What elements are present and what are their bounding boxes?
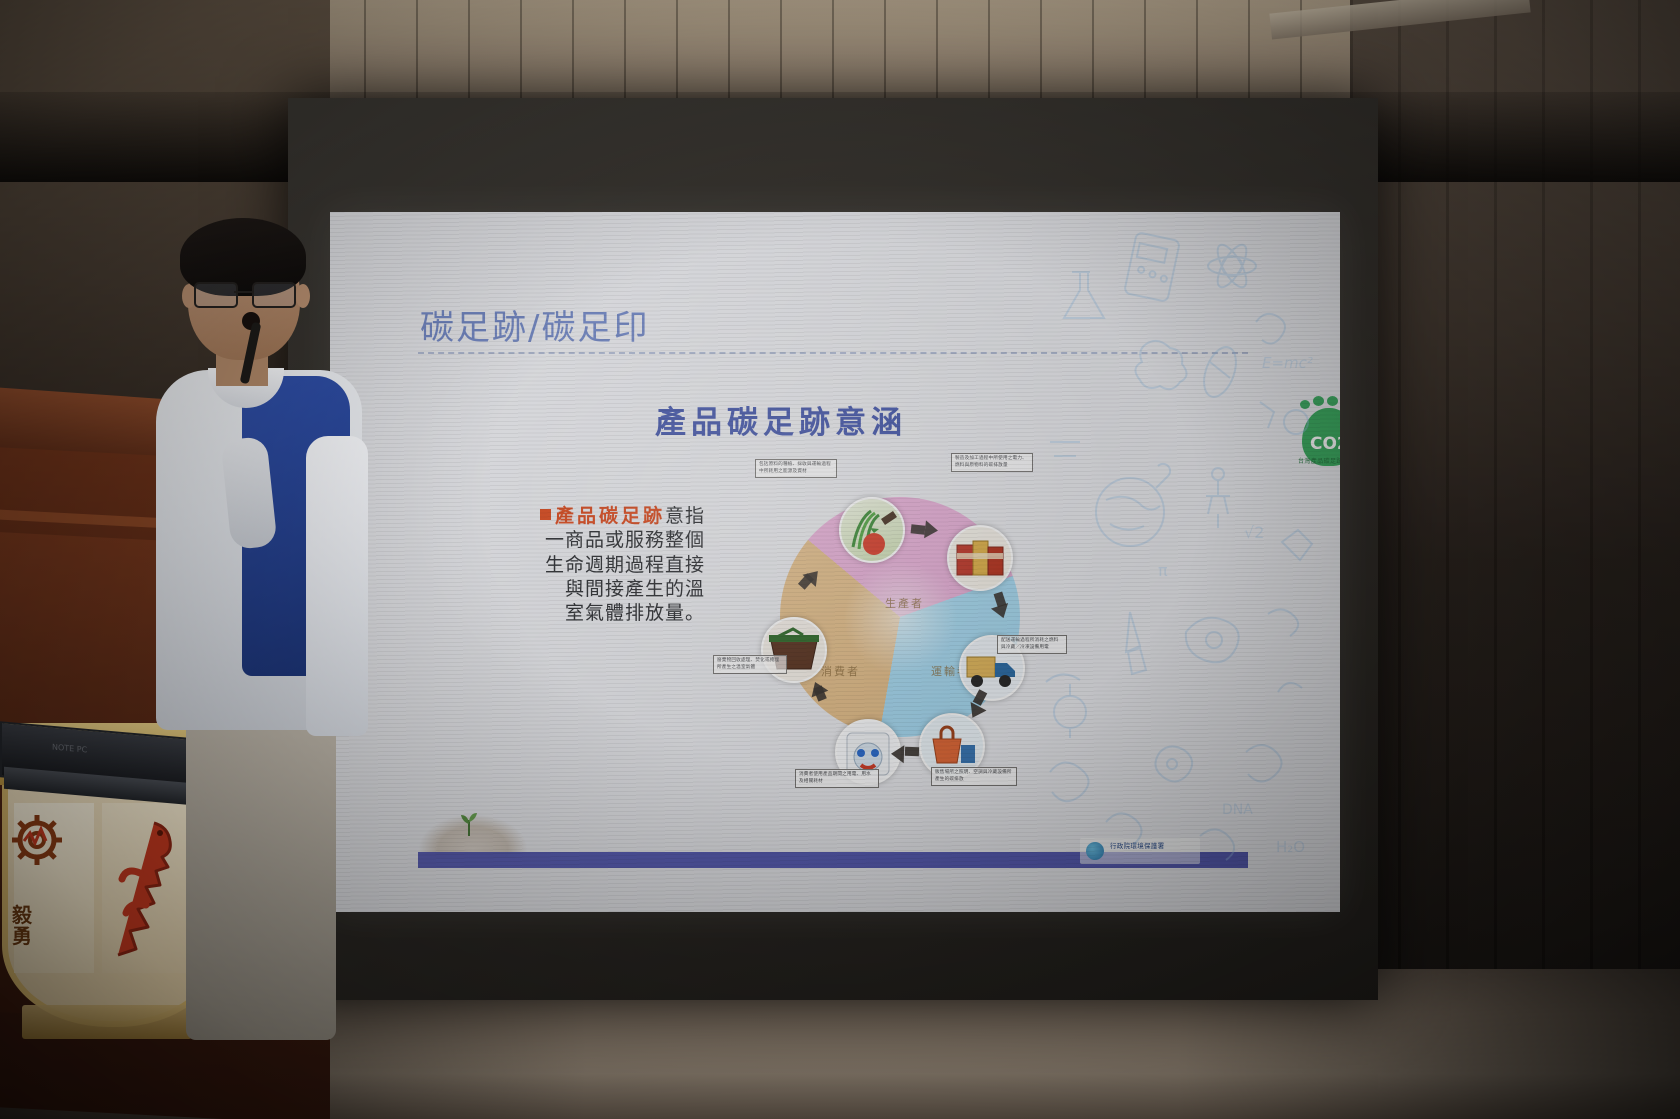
segment-label-producer: 生產者 (885, 595, 924, 611)
bullet-line-3: 生命週期過程直接 (490, 553, 705, 577)
sprout-icon (458, 810, 480, 836)
callout-raw: 包括原料的種植、採收與運輸過程中所耗用之能源及資材 (755, 459, 837, 478)
svg-text:H₂O: H₂O (1276, 838, 1305, 856)
presentation-slide: 碳足跡/碳足印 產品碳足跡意涵 CO2 台灣產品碳足跡 產品碳足跡意指 一商品或… (330, 212, 1340, 912)
svg-text:E=mc²: E=mc² (1262, 354, 1313, 372)
projection-screen[interactable]: 碳足跡/碳足印 產品碳足跡意涵 CO2 台灣產品碳足跡 產品碳足跡意指 一商品或… (330, 212, 1340, 912)
lecture-hall-scene: 碳足跡/碳足印 產品碳足跡意涵 CO2 台灣產品碳足跡 產品碳足跡意指 一商品或… (0, 0, 1680, 1119)
vegetables-icon (841, 499, 903, 561)
presenter-ear-right (296, 284, 310, 308)
crest-motto: 毅 勇 (12, 905, 32, 947)
callout-retail: 販售場所之照明、空調與冷藏設備所產生的碳排放 (931, 767, 1017, 786)
callout-use: 消費者使用產品期間之用電、用水及相關耗材 (795, 769, 879, 788)
bullet-rest: 意指 (665, 505, 705, 527)
science-doodle-background: E=mc² √2 π H₂O DNA (1010, 212, 1340, 912)
bullet-line-5: 室氣體排放量。 (490, 601, 705, 625)
slide-title: 碳足跡/碳足印 (420, 300, 649, 349)
bullet-line-4: 與間接產生的溫 (490, 577, 705, 601)
node-manufacturing (947, 525, 1013, 591)
svg-text:π: π (1158, 561, 1168, 580)
presenter (150, 210, 410, 1040)
presenter-jacket-white (306, 436, 368, 736)
crest-motto-1: 毅 (12, 905, 32, 926)
segment-label-consumer: 消費者 (821, 663, 860, 679)
slide-heading: 產品碳足跡意涵 (655, 397, 907, 442)
crest-motto-2: 勇 (12, 926, 32, 947)
presenter-legs (186, 710, 336, 1040)
lens-left (194, 282, 238, 308)
bullet-line-2: 一商品或服務整個 (490, 528, 705, 552)
doodle-icons: E=mc² √2 π H₂O DNA (1010, 212, 1340, 912)
callout-disposal: 廢棄物回收處理、焚化或掩埋所產生之溫室氣體 (713, 655, 787, 674)
cans-icon (949, 527, 1011, 589)
svg-text:DNA: DNA (1222, 802, 1253, 818)
pie-center-highlight (843, 560, 958, 675)
bullet-highlight: 產品碳足跡 (555, 505, 665, 527)
eyeglasses-icon (194, 282, 292, 304)
definition-bullet: 產品碳足跡意指 一商品或服務整個 生命週期過程直接 與間接產生的溫 室氣體排放量… (490, 504, 705, 626)
svg-text:√2: √2 (1244, 523, 1264, 542)
glasses-bridge (234, 291, 252, 293)
bullet-marker-icon (540, 509, 551, 520)
node-raw-materials (839, 497, 905, 563)
lens-right (252, 282, 296, 308)
